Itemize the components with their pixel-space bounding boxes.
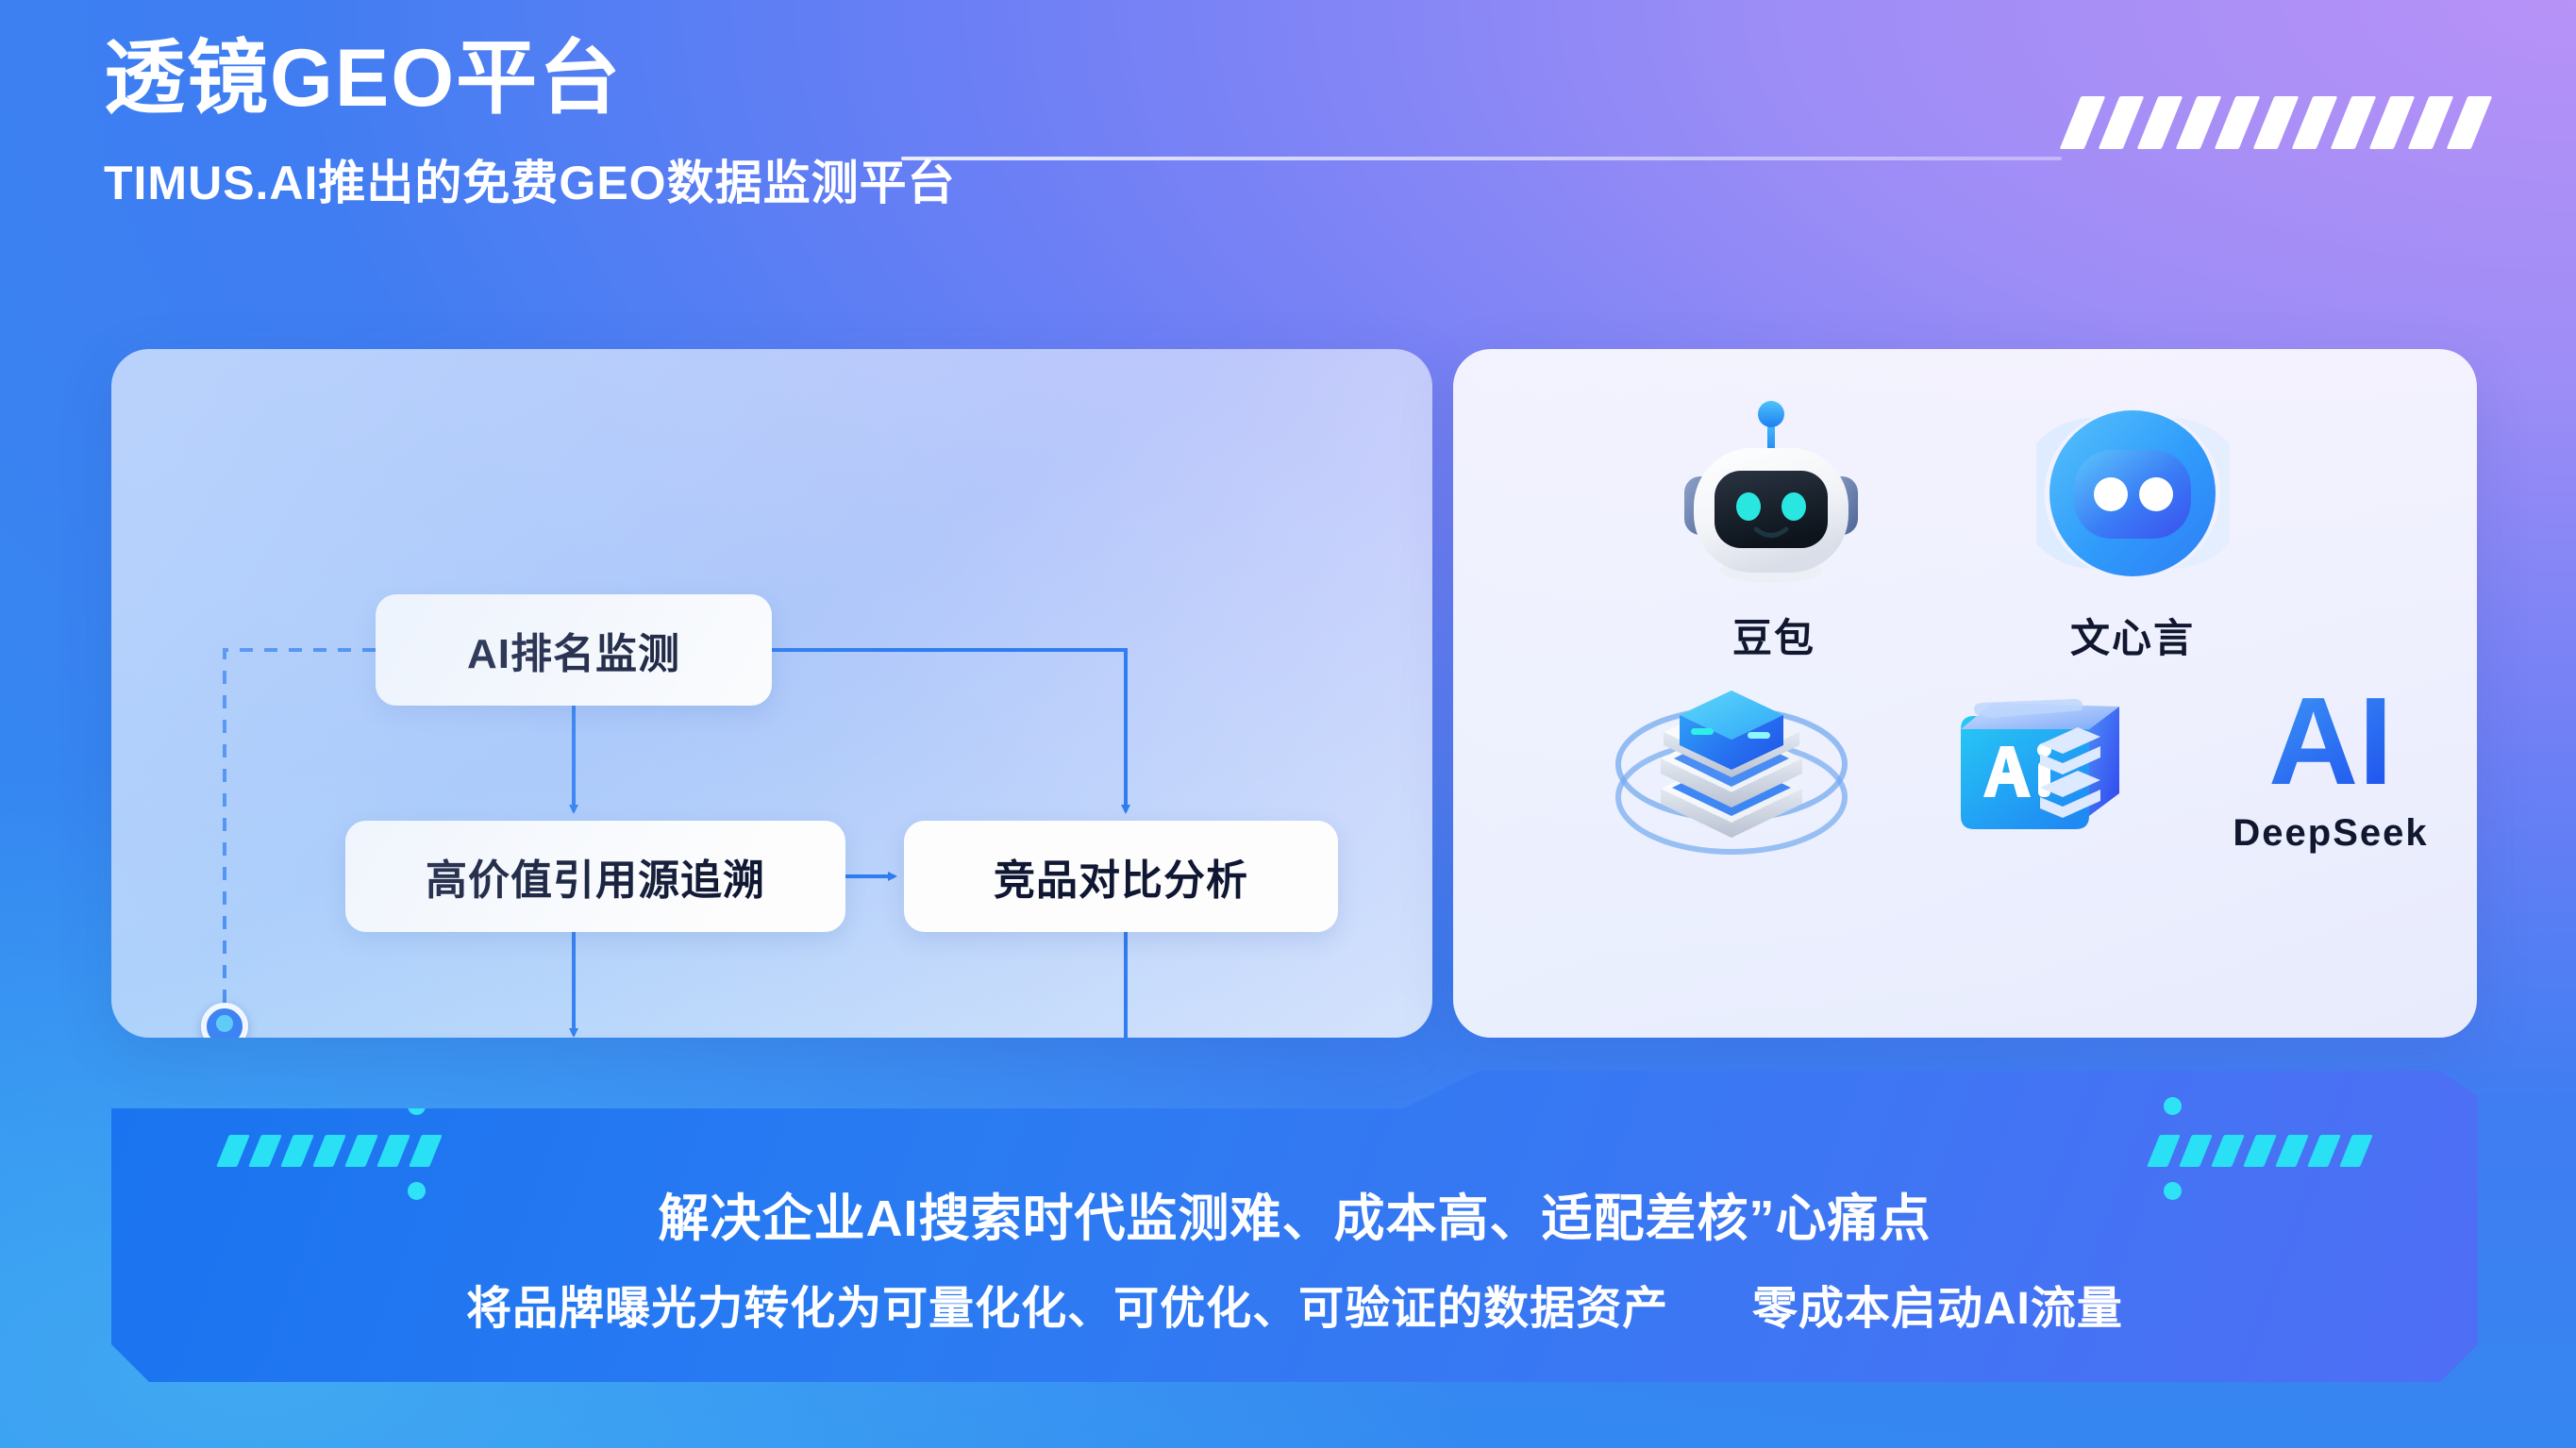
ai-models-panel: 豆包 xyxy=(1453,349,2477,1038)
data-stack-icon xyxy=(1604,670,1859,868)
banner-subline: 将品牌曝光力转化为可量化化、可优化、可验证的数据资产 零成本启动AI流量 xyxy=(111,1271,2478,1337)
flow-panel: AI排名监测 高价值引用源追溯 竞品对比分析 竞品对比分析 xyxy=(111,349,1432,1038)
ai-cube-icon xyxy=(1934,674,2133,868)
ai-models-grid: 豆包 xyxy=(1453,349,2477,1038)
banner-subline-b: 零成本启动AI流量 xyxy=(1752,1284,2123,1334)
model-label: 文心言 xyxy=(2070,607,2195,664)
model-item-wenxin[interactable]: 文心言 xyxy=(1977,401,2288,664)
header-stripes-icon xyxy=(2048,94,2482,151)
model-label: 豆包 xyxy=(1732,607,1815,664)
flow-diagram: AI排名监测 高价值引用源追溯 竞品对比分析 竞品对比分析 xyxy=(111,349,1432,1038)
value-proposition-banner: 解决企业AI搜索时代监测难、成本高、适配差核”心痛点 将品牌曝光力转化为可量化化… xyxy=(111,1071,2478,1382)
flow-node-competitor-analysis-top[interactable]: 竞品对比分析 xyxy=(904,821,1338,932)
ai-wordmark-icon: AI xyxy=(2222,674,2439,807)
banner-dot-icon xyxy=(2164,1097,2182,1115)
header: 透镜GEO平台 TIMUS.AI推出的免费GEO数据监测平台 xyxy=(104,36,2482,272)
flow-node-ai-ranking[interactable]: AI排名监测 xyxy=(376,594,772,706)
model-item-doubao[interactable]: 豆包 xyxy=(1618,391,1930,664)
poster-page: 透镜GEO平台 TIMUS.AI推出的免费GEO数据监测平台 xyxy=(0,0,2576,1448)
banner-stripes-icon xyxy=(223,1135,436,1167)
title-divider xyxy=(901,157,2062,160)
banner-stripes-icon xyxy=(2153,1135,2367,1167)
banner-subline-a: 将品牌曝光力转化为可量化化、可优化、可验证的数据资产 xyxy=(466,1284,1668,1334)
model-item-data-stack xyxy=(1576,670,1887,868)
model-item-deepseek[interactable]: AI DeepSeek xyxy=(2175,674,2477,855)
flow-node-label: AI排名监测 xyxy=(467,620,680,680)
banner-content: 解决企业AI搜索时代监测难、成本高、适配差核”心痛点 将品牌曝光力转化为可量化化… xyxy=(111,1071,2478,1382)
flow-node-label: 高价值引用源追溯 xyxy=(426,846,765,907)
robot-head-icon xyxy=(1665,391,1882,590)
chat-circle-icon xyxy=(2036,401,2230,590)
flow-node-label: 竞品对比分析 xyxy=(994,846,1248,907)
flow-node-citation-source[interactable]: 高价值引用源追溯 xyxy=(345,821,845,932)
ai-mark-text: AI xyxy=(2268,674,2393,807)
banner-dot-icon xyxy=(408,1097,426,1115)
flow-connectors xyxy=(111,349,1432,1038)
model-label: DeepSeek xyxy=(2233,812,2428,855)
banner-headline: 解决企业AI搜索时代监测难、成本高、适配差核”心痛点 xyxy=(111,1176,2478,1251)
model-item-ai-cube xyxy=(1878,674,2189,868)
